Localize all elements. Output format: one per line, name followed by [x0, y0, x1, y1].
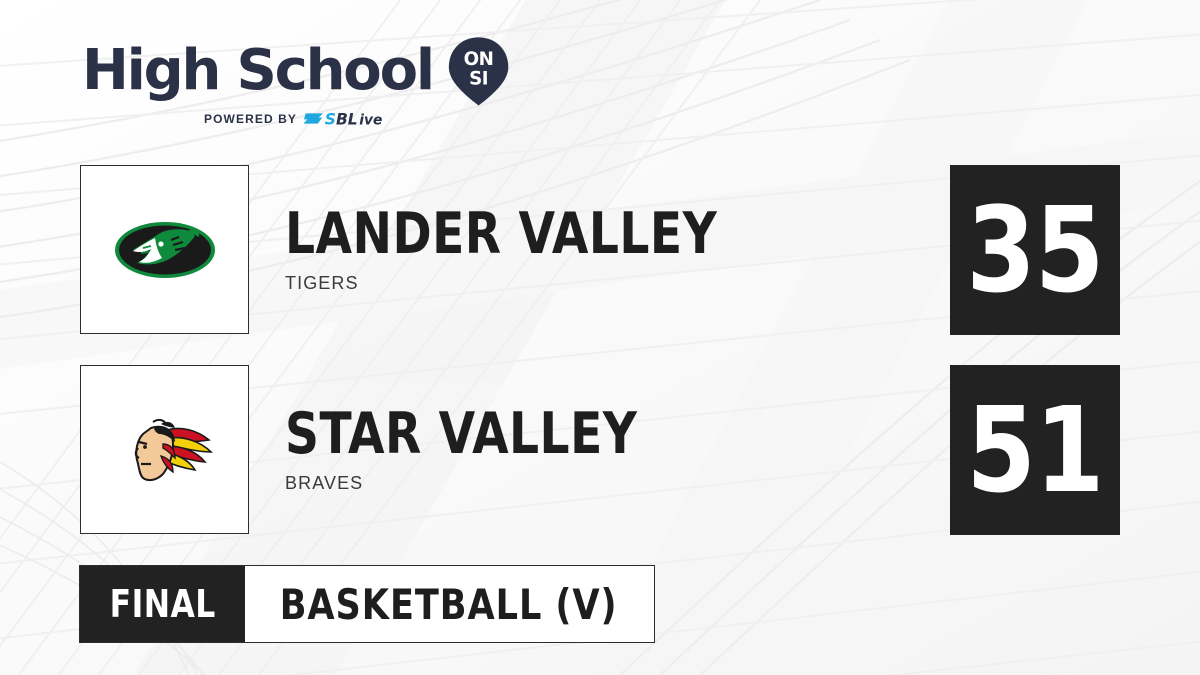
game-status-label: FINAL	[110, 582, 216, 626]
team-score: 51	[966, 391, 1103, 509]
team-score-box: 51	[950, 365, 1120, 535]
team-name: STAR VALLEY	[285, 405, 637, 463]
team-logo-card	[80, 165, 249, 334]
team-info: LANDER VALLEY TIGERS	[285, 205, 755, 294]
status-bar: FINAL BASKETBALL (V)	[79, 565, 655, 643]
brand-wordmark: High School	[82, 42, 433, 100]
team-score-box: 35	[950, 165, 1120, 335]
team-score: 35	[966, 191, 1103, 309]
svg-text:SI: SI	[469, 68, 488, 89]
team-info: STAR VALLEY BRAVES	[285, 405, 668, 494]
on-si-pin-icon: ON SI	[445, 34, 512, 108]
svg-text:BL: BL	[336, 111, 358, 128]
team-nickname: BRAVES	[285, 473, 668, 494]
powered-by-label: POWERED BY	[204, 112, 297, 126]
team-logo-card	[80, 365, 249, 534]
svg-text:ive: ive	[359, 113, 382, 128]
svg-text:ON: ON	[464, 49, 494, 70]
tiger-head-logo-icon	[105, 190, 225, 310]
sblive-logo-icon: S BL ive	[304, 109, 418, 128]
brave-head-logo-icon	[105, 390, 225, 510]
team-name: LANDER VALLEY	[285, 205, 717, 263]
brand-logo: High School ON SI POWERED BY S BL ive	[82, 36, 512, 136]
svg-text:S: S	[325, 111, 336, 128]
sport-label-box: BASKETBALL (V)	[245, 566, 653, 642]
sport-label: BASKETBALL (V)	[280, 580, 618, 629]
game-status-badge: FINAL	[80, 566, 245, 642]
team-nickname: TIGERS	[285, 273, 755, 294]
